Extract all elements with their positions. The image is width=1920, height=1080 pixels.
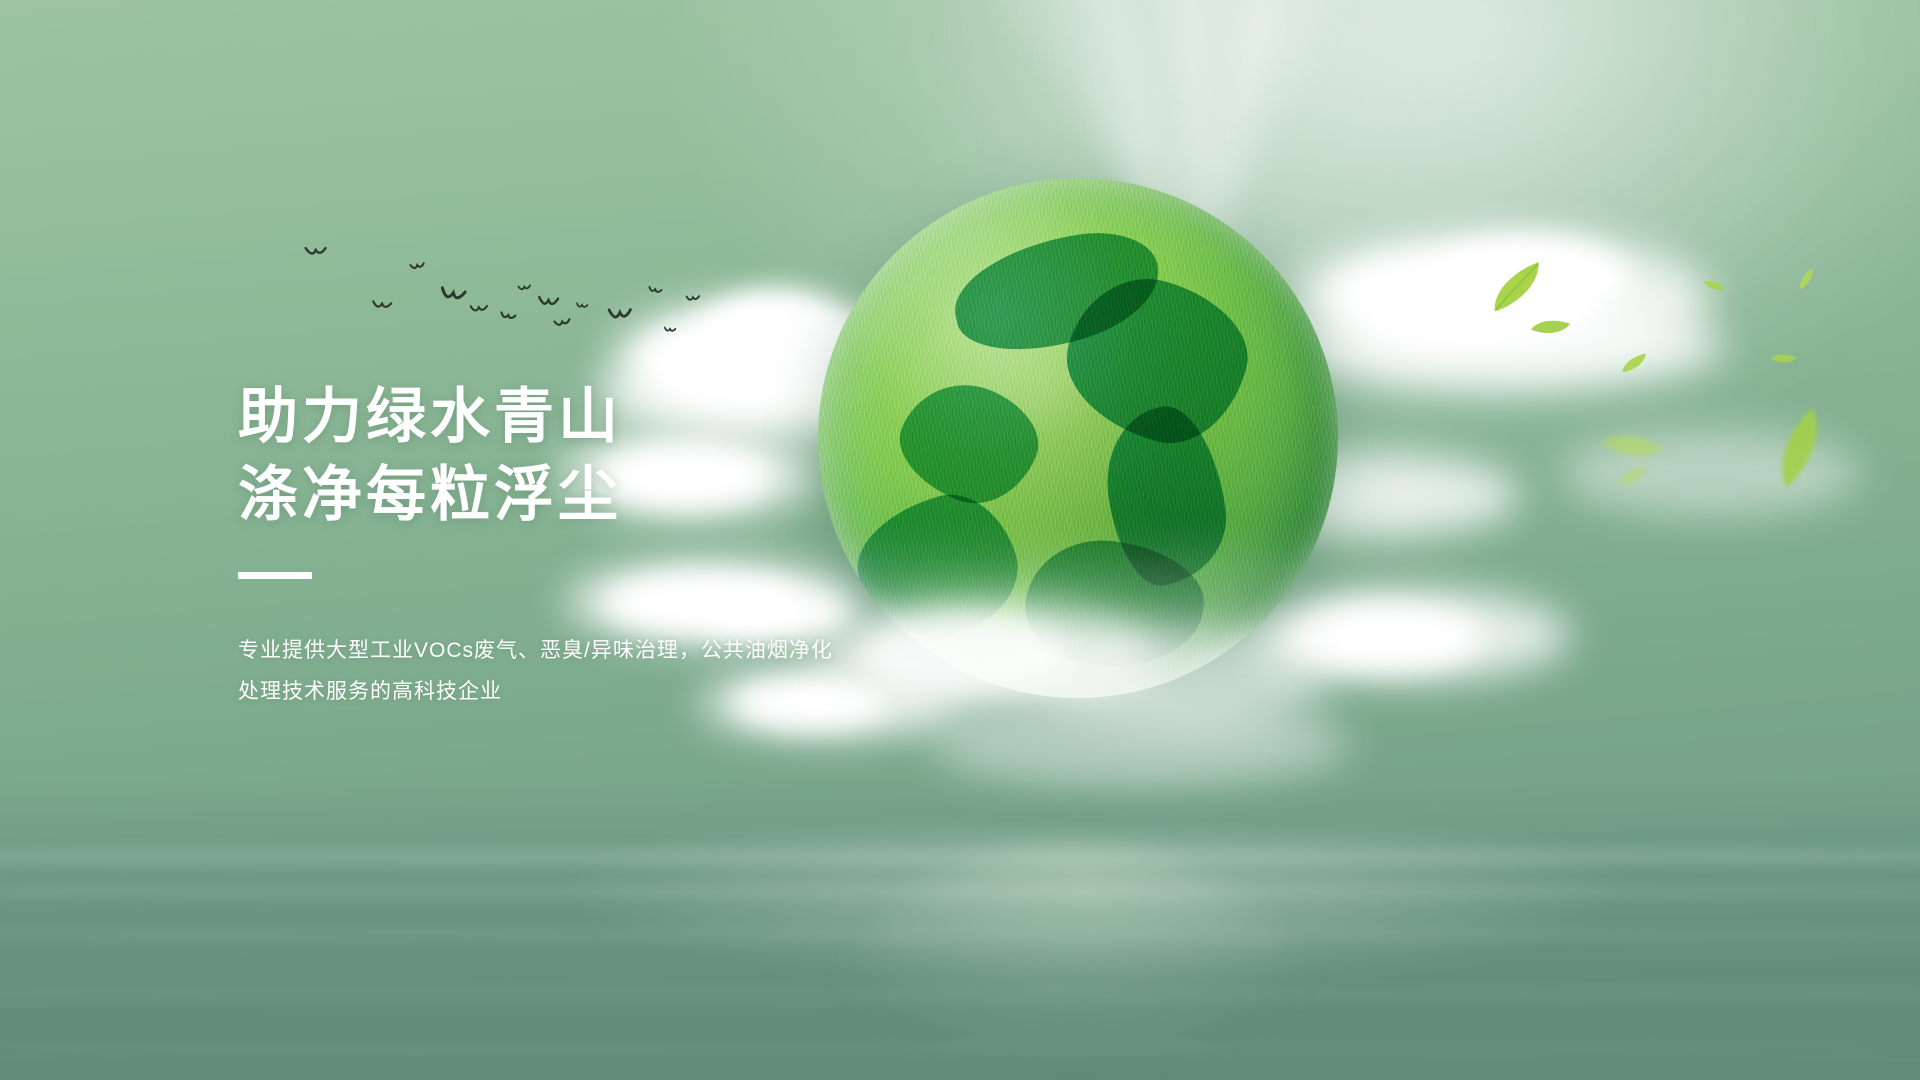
hero-banner: 助力绿水青山 涤净每粒浮尘 专业提供大型工业VOCs废气、恶臭/异味治理，公共油… bbox=[0, 0, 1920, 1080]
water-wave bbox=[0, 884, 1920, 900]
water-wave bbox=[0, 928, 1920, 942]
bird-icon bbox=[608, 307, 633, 321]
bird-icon bbox=[470, 303, 489, 314]
headline-line-2: 涤净每粒浮尘 bbox=[238, 456, 898, 534]
page-title: 助力绿水青山 涤净每粒浮尘 bbox=[238, 378, 898, 534]
bird-icon bbox=[409, 261, 425, 272]
hero-copy: 助力绿水青山 涤净每粒浮尘 专业提供大型工业VOCs废气、恶臭/异味治理，公共油… bbox=[238, 378, 898, 713]
cloud bbox=[930, 700, 1350, 786]
bird-icon bbox=[304, 245, 327, 259]
headline-line-1: 助力绿水青山 bbox=[238, 378, 898, 456]
bird-icon bbox=[576, 301, 589, 310]
hero-description: 专业提供大型工业VOCs废气、恶臭/异味治理，公共油烟净化处理技术服务的高科技企… bbox=[238, 631, 838, 713]
bird-icon bbox=[686, 293, 701, 303]
water-wave bbox=[0, 846, 1920, 868]
bird-icon bbox=[647, 285, 663, 297]
bird-icon bbox=[439, 286, 467, 303]
water-wave bbox=[0, 986, 1920, 1004]
bird-icon bbox=[499, 311, 516, 323]
leaf-icon bbox=[1793, 266, 1823, 295]
bird-icon bbox=[664, 326, 677, 335]
bird-icon bbox=[518, 283, 532, 293]
bird-icon bbox=[538, 296, 559, 309]
title-divider bbox=[238, 572, 312, 579]
bird-icon bbox=[553, 316, 572, 329]
bird-icon bbox=[372, 299, 393, 311]
leaf-icon bbox=[1768, 348, 1798, 373]
water-wave bbox=[0, 1042, 1920, 1058]
